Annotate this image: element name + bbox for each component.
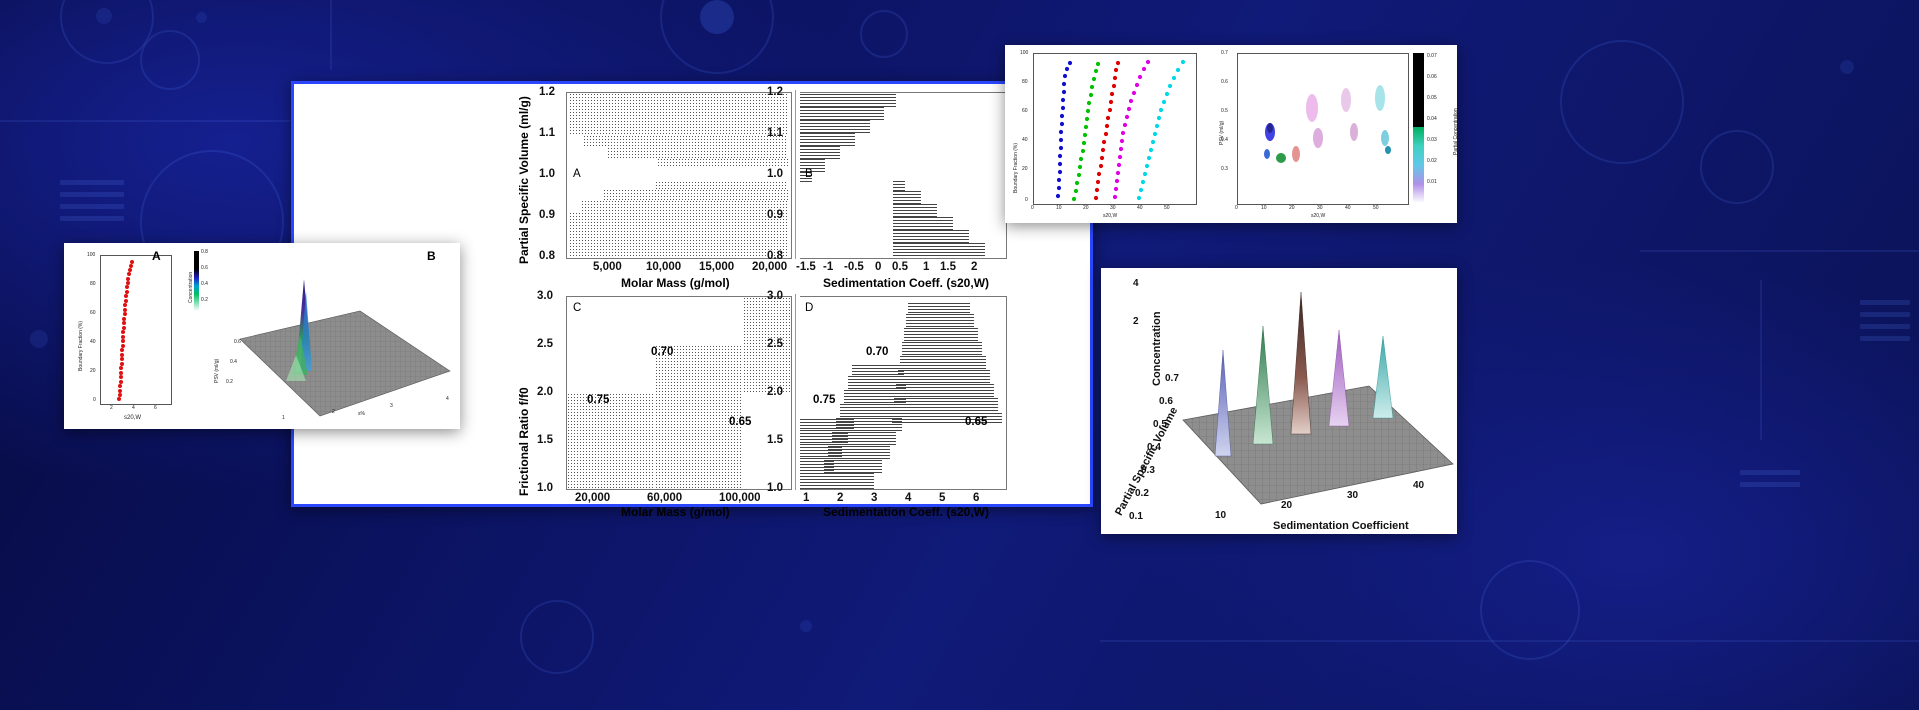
decor-circle: [1560, 40, 1684, 164]
tr-right-ytick: 0.3: [1221, 166, 1228, 172]
decor-bar: [1740, 482, 1800, 487]
tr-left-xlabel: s20,W: [1103, 213, 1117, 219]
panel-a-lower-region-2: [603, 189, 788, 200]
panel-d-ann-075: 0.75: [813, 394, 835, 406]
left-panel-b-xtick: 3: [390, 403, 393, 409]
panel-c-xtick: 20,000: [575, 492, 610, 504]
decor-dot: [196, 12, 207, 23]
panel-b-xtick: 0: [875, 261, 881, 273]
left-panel-a-ytick: 60: [90, 310, 96, 316]
panel-a-ytick: 0.9: [539, 209, 555, 221]
panel-a-ylabel: Partial Specific Volume (ml/g): [517, 96, 531, 264]
panel-b-xlabel: Sedimentation Coeff. (s20,W): [823, 276, 989, 290]
panel-b-lower-wedge: [893, 243, 985, 256]
decor-bar: [1860, 336, 1910, 341]
br-3d-surface-svg: [1101, 268, 1457, 534]
panel-d-xtick: 2: [837, 492, 843, 504]
panel-a-upper-region-2: [583, 135, 788, 147]
panel-b-upper-wedge: [800, 133, 855, 146]
decor-dot: [96, 8, 112, 24]
panel-b-letter: B: [805, 168, 813, 180]
tr-left-xtick: 10: [1056, 205, 1062, 211]
panel-b-upper-wedge: [800, 93, 896, 107]
panel-b-ytick: 1.0: [767, 168, 783, 180]
panel-b-lower-wedge: [893, 217, 953, 230]
panel-a-upper-region: [569, 93, 788, 135]
tr-colorbar-tick: 0.04: [1427, 116, 1437, 122]
decor-bar: [1740, 470, 1800, 475]
panel-b-xtick: 0.5: [892, 261, 908, 273]
panel-c-xtick: 60,000: [647, 492, 682, 504]
tr-colorbar-label: Partial Concentration: [1453, 108, 1459, 155]
br-ytick: 0.6: [1159, 396, 1173, 407]
decor-circle: [520, 600, 594, 674]
panel-c-region-075: [567, 393, 655, 489]
tr-left-xtick: 20: [1083, 205, 1089, 211]
panel-d-xtick: 1: [803, 492, 809, 504]
panel-b-lower-wedge: [893, 191, 921, 204]
panel-d-band-070: [852, 363, 904, 375]
panel-d-band-070: [832, 431, 896, 445]
panel-b-ytick: 0.8: [767, 250, 783, 262]
br-xlabel: Sedimentation Coefficient: [1273, 520, 1409, 532]
left-panel-a-xtick: 6: [154, 405, 157, 411]
left-panel-b-ytick: 0.4: [230, 359, 237, 365]
panel-c-ytick: 3.0: [537, 290, 553, 302]
panel-b-xtick: -1.5: [796, 261, 816, 273]
panel-d-ytick: 3.0: [767, 290, 783, 302]
br-ytick: 0.7: [1165, 373, 1179, 384]
left-panel-a-ytick: 0: [93, 397, 96, 403]
panel-d-band-065: [906, 313, 974, 327]
bottom-right-inset-card: Concentration 4 2 Partial Specific Volum…: [1101, 268, 1457, 534]
left-panel-b-colorbar: [194, 251, 199, 311]
panel-d-xtick: 6: [973, 492, 979, 504]
panel-b-xtick: 1.5: [940, 261, 956, 273]
left-panel-b-xtick: 2: [332, 409, 335, 415]
panel-c-ytick: 1.5: [537, 434, 553, 446]
tr-colorbar-tick: 0.07: [1427, 53, 1437, 59]
tr-right-xtick: 10: [1261, 205, 1267, 211]
panel-d-xtick: 4: [905, 492, 911, 504]
panel-cd-divider: [795, 294, 796, 490]
left-panel-a-ytick: 100: [87, 252, 95, 258]
br-xtick: 20: [1281, 500, 1292, 511]
panel-b-xtick: -0.5: [844, 261, 864, 273]
panel-b-upper-wedge: [800, 107, 884, 120]
decor-bar: [60, 180, 124, 185]
tr-right-ytick: 0.4: [1221, 137, 1228, 143]
panel-d-ann-065: 0.65: [965, 416, 987, 428]
tr-colorbar-tick: 0.05: [1427, 95, 1437, 101]
tr-right-xtick: 0: [1235, 205, 1238, 211]
panel-b-xtick: -1: [823, 261, 833, 273]
panel-a-ytick: 1.0: [539, 168, 555, 180]
panel-d-plot: [800, 296, 1007, 490]
decor-dot: [30, 330, 48, 348]
panel-a-xtick: 15,000: [699, 261, 734, 273]
panel-c-plot: [566, 296, 792, 490]
left-panel-a-xlabel: s20,W: [124, 415, 141, 421]
decor-bar: [1860, 324, 1910, 329]
decor-line: [1760, 280, 1762, 440]
panel-b-xtick: 2: [971, 261, 977, 273]
tr-colorbar-tick: 0.02: [1427, 158, 1437, 164]
panel-c-ytick: 2.5: [537, 338, 553, 350]
br-xtick: 40: [1413, 480, 1424, 491]
decor-bar: [60, 216, 124, 221]
tr-right-xtick: 50: [1373, 205, 1379, 211]
decor-bar: [60, 204, 124, 209]
decor-dot: [700, 0, 734, 34]
tr-colorbar-rainbow: [1413, 127, 1424, 203]
top-right-inset-card: Boundary Fraction (%): [1005, 45, 1457, 223]
panel-a-ytick: 1.1: [539, 127, 555, 139]
br-ytick: 0.3: [1141, 465, 1155, 476]
tr-left-ytick: 0: [1025, 197, 1028, 203]
panel-b-lower-wedge: [893, 181, 905, 191]
left-panel-a-plot: [100, 255, 172, 405]
tr-right-xtick: 40: [1345, 205, 1351, 211]
panel-d-band-065: [898, 369, 990, 383]
tr-left-ytick: 80: [1022, 79, 1028, 85]
panel-a-lower-region-3: [581, 200, 788, 212]
tr-left-ytick: 60: [1022, 108, 1028, 114]
panel-b-ytick: 0.9: [767, 209, 783, 221]
tr-right-xlabel: s20,W: [1311, 213, 1325, 219]
panel-a-lower-region-4: [569, 212, 788, 258]
panel-a-letter: A: [573, 168, 581, 180]
br-ytick: 0.5: [1153, 419, 1167, 430]
panel-b-lower-wedge: [893, 230, 969, 243]
panel-a-plot: [566, 92, 792, 259]
panel-c-xtick: 100,000: [719, 492, 761, 504]
panel-b-upper-wedge: [800, 146, 840, 159]
left-panel-b-xtick: 4: [446, 396, 449, 402]
br-ytick: 0.1: [1129, 511, 1143, 522]
tr-right-xtick: 20: [1289, 205, 1295, 211]
panel-b-lower-wedge: [893, 204, 937, 217]
panel-c-ylabel: Frictional Ratio f/f0: [517, 387, 531, 496]
decor-dot: [800, 620, 812, 632]
panel-a-ytick: 1.2: [539, 86, 555, 98]
decor-circle: [1480, 560, 1580, 660]
left-inset-card: Boundary Fraction (%) 100 80 60 40 20 0 …: [64, 243, 460, 429]
tr-left-ylabel: Boundary Fraction (%): [1013, 143, 1019, 193]
panel-c-xlabel: Molar Mass (g/mol): [621, 505, 730, 519]
left-panel-a-ytick: 20: [90, 368, 96, 374]
panel-c-ann-075: 0.75: [587, 394, 609, 406]
panel-d-ann-070: 0.70: [866, 346, 888, 358]
panel-c-ann-070: 0.70: [651, 346, 673, 358]
left-panel-b-letter: B: [427, 249, 436, 263]
tr-right-xtick: 30: [1317, 205, 1323, 211]
panel-a-ytick: 0.8: [539, 250, 555, 262]
tr-colorbar-tick: 0.03: [1427, 137, 1437, 143]
decor-bar: [60, 192, 124, 197]
decor-line: [1100, 640, 1919, 642]
panel-d-band-065: [908, 301, 970, 313]
panel-c-ann-065: 0.65: [729, 416, 751, 428]
panel-d-xtick: 3: [871, 492, 877, 504]
tr-left-scatter-svg: [1034, 54, 1196, 204]
panel-a-xtick: 10,000: [646, 261, 681, 273]
left-panel-a-ytick: 80: [90, 281, 96, 287]
decor-circle: [1700, 130, 1774, 204]
panel-b-ytick: 1.1: [767, 127, 783, 139]
left-panel-b-ytick: 0.2: [226, 379, 233, 385]
panel-d-band-065: [894, 397, 998, 411]
panel-d-band-070: [820, 473, 874, 489]
tr-colorbar-black: [1413, 53, 1424, 127]
panel-a-lower-region-1: [655, 181, 788, 189]
tr-right-ytick: 0.5: [1221, 108, 1228, 114]
panel-b-plot: [800, 92, 1007, 259]
left-panel-a-ylabel: Boundary Fraction (%): [78, 321, 84, 371]
panel-d-band-065: [904, 327, 978, 341]
panel-a-xlabel: Molar Mass (g/mol): [621, 276, 730, 290]
panel-d-ytick: 1.0: [767, 482, 783, 494]
panel-a-upper-region-4: [657, 158, 788, 166]
tr-right-ytick: 0.7: [1221, 50, 1228, 56]
panel-d-ytick: 2.5: [767, 338, 783, 350]
left-panel-b-xtick: 1: [282, 415, 285, 421]
br-xtick: 10: [1215, 510, 1226, 521]
decor-line: [0, 120, 290, 122]
tr-left-xtick: 40: [1137, 205, 1143, 211]
decor-line: [330, 0, 332, 70]
tr-colorbar-tick: 0.01: [1427, 179, 1437, 185]
panel-a-upper-region-3: [607, 147, 788, 158]
panel-b-xtick: 1: [923, 261, 929, 273]
tr-colorbar-tick: 0.06: [1427, 74, 1437, 80]
tr-right-heatmap-svg: [1238, 54, 1408, 204]
tr-left-xtick: 50: [1164, 205, 1170, 211]
br-ytick: 0.4: [1147, 442, 1161, 453]
tr-left-xtick: 0: [1031, 205, 1034, 211]
decor-circle: [860, 10, 908, 58]
tr-left-ytick: 40: [1022, 137, 1028, 143]
panel-b-lower-wedge: [893, 256, 1006, 259]
panel-d-ytick: 1.5: [767, 434, 783, 446]
tr-left-ytick: 100: [1020, 50, 1028, 56]
tr-left-xtick: 30: [1110, 205, 1116, 211]
panel-d-ytick: 2.0: [767, 386, 783, 398]
tr-right-plot: [1237, 53, 1409, 205]
left-panel-a-scatter-svg: [101, 256, 171, 404]
br-xtick: 30: [1347, 490, 1358, 501]
left-panel-b-ylabel: PSV (ml/g): [214, 359, 220, 383]
panel-d-xlabel: Sedimentation Coeff. (s20,W): [823, 505, 989, 519]
panel-d-band-065: [900, 355, 986, 369]
panel-b-ytick: 1.2: [767, 86, 783, 98]
panel-b-upper-wedge: [800, 120, 870, 133]
left-panel-a-letter: A: [152, 249, 161, 263]
left-panel-a-xtick: 2: [110, 405, 113, 411]
decor-line: [1640, 250, 1919, 252]
panel-d-band-070: [828, 445, 890, 459]
panel-ab-divider: [795, 90, 796, 259]
decor-dot: [1840, 60, 1854, 74]
decor-circle: [140, 30, 200, 90]
panel-d-xtick: 5: [939, 492, 945, 504]
left-panel-b-xlabel: s%: [358, 411, 365, 417]
left-panel-a-ytick: 40: [90, 339, 96, 345]
panel-c-ytick: 2.0: [537, 386, 553, 398]
four-panel-figure: Partial Specific Volume (ml/g) Frictiona…: [503, 84, 1013, 509]
decor-bar: [1860, 312, 1910, 317]
panel-c-letter: C: [573, 302, 581, 314]
panel-d-band-070: [824, 459, 882, 473]
panel-d-band-065: [896, 383, 994, 397]
panel-d-letter: D: [805, 302, 813, 314]
panel-a-xtick: 20,000: [752, 261, 787, 273]
left-panel-a-xtick: 4: [132, 405, 135, 411]
tr-left-ytick: 20: [1022, 166, 1028, 172]
tr-left-plot: [1033, 53, 1197, 205]
panel-c-ytick: 1.0: [537, 482, 553, 494]
panel-a-xtick: 5,000: [593, 261, 622, 273]
left-panel-b-ytick: 0.6: [234, 339, 241, 345]
panel-d-band-065: [902, 341, 982, 355]
decor-bar: [1860, 300, 1910, 305]
br-ytick: 0.2: [1135, 488, 1149, 499]
tr-right-ytick: 0.6: [1221, 79, 1228, 85]
